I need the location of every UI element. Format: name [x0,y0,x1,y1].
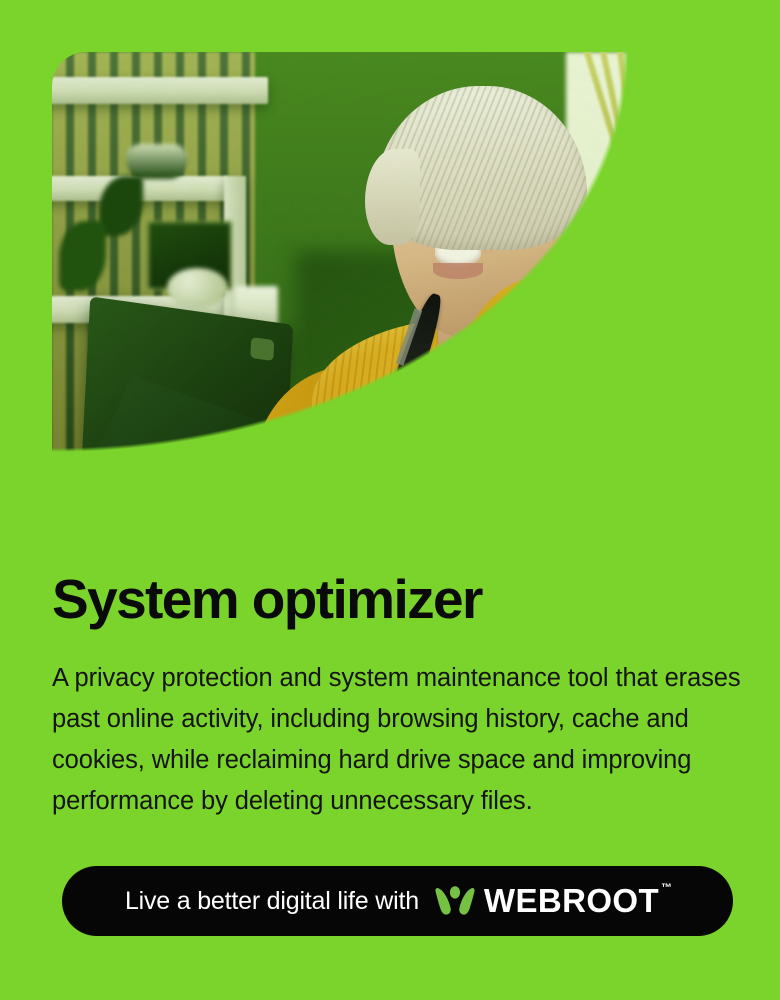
cta-banner[interactable]: Live a better digital life with WEBROOT™ [62,866,733,936]
page-title: System optimizer [52,572,482,627]
webroot-logo: WEBROOT™ [435,882,670,920]
webroot-wordmark-text: WEBROOT [484,882,659,919]
webroot-mark-icon [435,886,475,917]
photo-color-grade [52,52,728,549]
cta-label: Live a better digital life with [125,887,419,916]
webroot-wordmark: WEBROOT™ [484,882,670,920]
hero-image [52,52,728,549]
trademark-symbol: ™ [661,882,672,894]
promo-card: System optimizer A privacy protection an… [0,0,780,1000]
description-text: A privacy protection and system maintena… [52,658,742,822]
hero-image-scene [52,52,728,549]
